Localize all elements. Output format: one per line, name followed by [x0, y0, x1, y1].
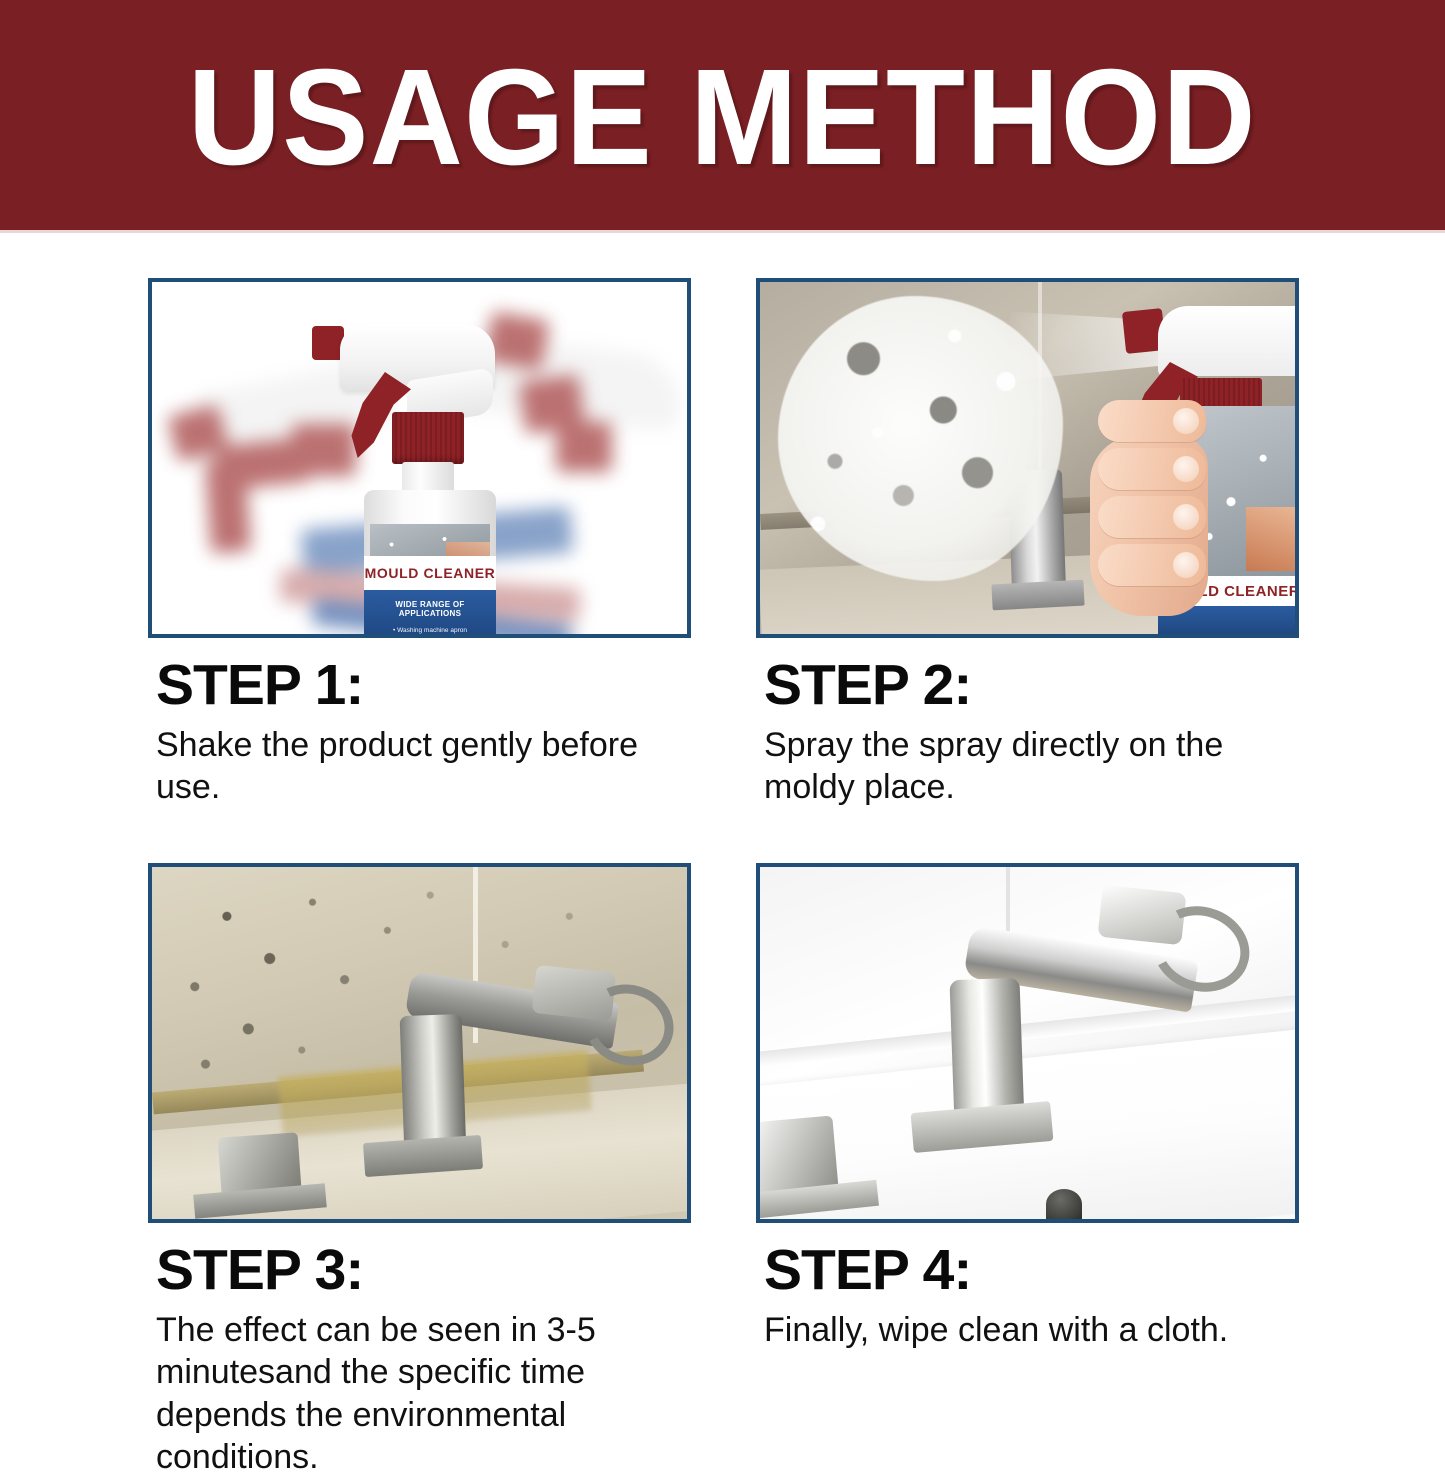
hand-holding-bottle — [1090, 394, 1270, 624]
spray-bottle-foreground: MOULD CLEANER WIDE RANGE OF APPLICATIONS… — [152, 282, 687, 634]
step-2-photo-frame: MOULD CLEANER — [756, 278, 1299, 638]
step-4-title: STEP 4: — [764, 1241, 1299, 1301]
steps-row-top: MOULD CLEANER WIDE RANGE OF APPLICATIONS… — [148, 278, 1298, 809]
label-blue-band: WIDE RANGE OF APPLICATIONS • Washing mac… — [364, 590, 496, 634]
step-4-photo-frame — [756, 863, 1299, 1223]
faucet-column — [400, 1014, 467, 1156]
faucet-base-plate — [991, 580, 1084, 611]
finger-ring — [1098, 496, 1206, 538]
fingernail — [1173, 408, 1199, 434]
page-title: USAGE METHOD — [188, 49, 1257, 186]
finger-index — [1098, 400, 1206, 442]
fingernail — [1173, 504, 1199, 530]
spraying-foam-image: MOULD CLEANER — [760, 282, 1295, 634]
finger-pinky — [1098, 544, 1206, 586]
step-3-photo-frame — [148, 863, 691, 1223]
nozzle-head — [1158, 306, 1295, 376]
dirty-faucet-image — [152, 867, 687, 1219]
steps-grid: MOULD CLEANER WIDE RANGE OF APPLICATIONS… — [148, 278, 1298, 1479]
step-3-title: STEP 3: — [156, 1241, 691, 1301]
product-label-tagline: WIDE RANGE OF APPLICATIONS — [364, 600, 496, 618]
step-4-description: Finally, wipe clean with a cloth. — [764, 1309, 1299, 1352]
usage-method-banner: USAGE METHOD — [0, 0, 1445, 230]
step-1-photo-frame: MOULD CLEANER WIDE RANGE OF APPLICATIONS… — [148, 278, 691, 638]
step-card-2: MOULD CLEANER STEP 2: Spray the spray di… — [756, 278, 1299, 809]
product-label-bullet: • Washing machine apron — [364, 627, 496, 634]
pump-collar — [392, 412, 464, 464]
product-label-name: MOULD CLEANER — [365, 565, 496, 581]
spray-bottle-image: MOULD CLEANER WIDE RANGE OF APPLICATIONS… — [152, 282, 687, 634]
step-3-description: The effect can be seen in 3-5 minutesand… — [156, 1309, 691, 1479]
step-card-3: STEP 3: The effect can be seen in 3-5 mi… — [148, 863, 691, 1479]
step-2-title: STEP 2: — [764, 656, 1299, 716]
drain-stopper — [1046, 1189, 1082, 1219]
steps-row-bottom: STEP 3: The effect can be seen in 3-5 mi… — [148, 863, 1298, 1479]
bottle-body: MOULD CLEANER WIDE RANGE OF APPLICATIONS… — [364, 490, 496, 634]
step-card-4: STEP 4: Finally, wipe clean with a cloth… — [756, 863, 1299, 1479]
finger-middle — [1098, 448, 1206, 490]
fingernail — [1173, 456, 1199, 482]
step-1-title: STEP 1: — [156, 656, 691, 716]
step-2-description: Spray the spray directly on the moldy pl… — [764, 724, 1299, 809]
banner-divider — [0, 230, 1445, 233]
label-name-band: MOULD CLEANER — [364, 556, 496, 590]
step-card-1: MOULD CLEANER WIDE RANGE OF APPLICATIONS… — [148, 278, 691, 809]
clean-faucet-image — [760, 867, 1295, 1219]
step-1-description: Shake the product gently before use. — [156, 724, 691, 809]
fingernail — [1173, 552, 1199, 578]
